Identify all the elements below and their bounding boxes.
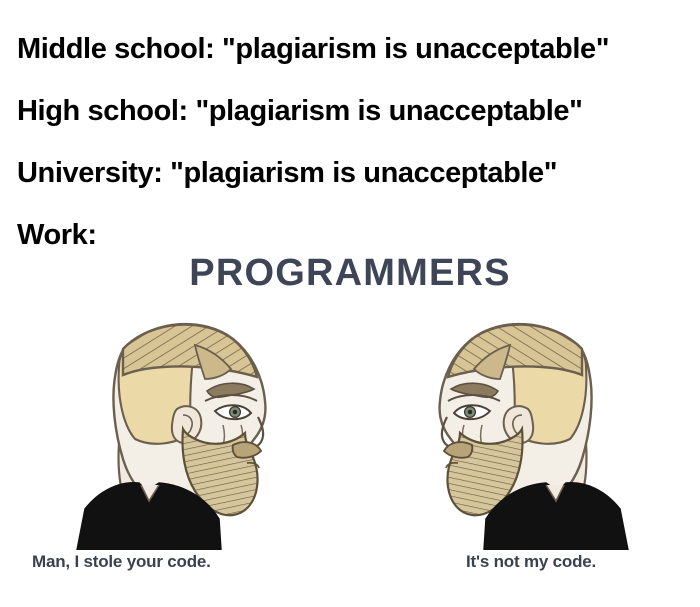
- chad-face-icon: [400, 305, 650, 550]
- top-text-line-high-school: High school: "plagiarism is unacceptable…: [17, 80, 687, 142]
- eye-pupil: [233, 410, 238, 415]
- headline-programmers: PROGRAMMERS: [0, 252, 700, 295]
- moustache-shape: [233, 442, 261, 458]
- moustache-shape: [444, 442, 472, 458]
- top-text-block: Middle school: "plagiarism is unacceptab…: [17, 18, 687, 266]
- top-text-line-middle-school: Middle school: "plagiarism is unacceptab…: [17, 18, 687, 80]
- chad-face-icon: [55, 305, 305, 550]
- chad-figure-right: [400, 305, 650, 550]
- meme-canvas: Middle school: "plagiarism is unacceptab…: [0, 0, 700, 607]
- caption-right: It's not my code.: [466, 552, 596, 572]
- top-text-line-university: University: "plagiarism is unacceptable": [17, 142, 687, 204]
- chad-figure-left: [55, 305, 305, 550]
- bottom-caption-row: Man, I stole your code. It's not my code…: [0, 552, 700, 587]
- eye-pupil: [468, 410, 473, 415]
- caption-left: Man, I stole your code.: [32, 552, 211, 572]
- figures-row: [0, 305, 700, 550]
